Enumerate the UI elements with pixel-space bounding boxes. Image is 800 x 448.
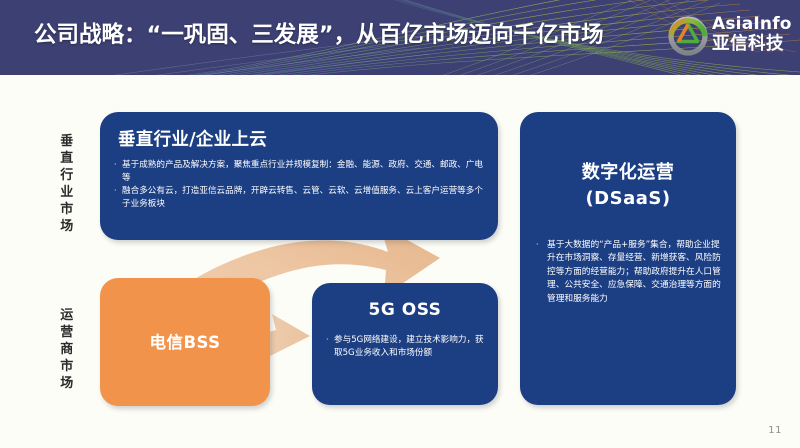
logo-text-en: AsiaInfo: [712, 14, 794, 34]
side-label-char: 市: [56, 201, 78, 218]
card-telecom-bss[interactable]: 电信BSS: [100, 278, 270, 406]
bullet-list-5g-oss: · 参与5G网络建设，建立技术影响力，获取5G业务收入和市场份额: [326, 334, 490, 361]
asiainfo-ring-logo-icon: [668, 16, 708, 56]
side-label-char: 行: [56, 167, 78, 184]
list-item-text: 融合多公有云，打造亚信云品牌，开辟云转售、云管、云软、云增值服务、云上客户运营等…: [122, 185, 490, 210]
card-5g-oss[interactable]: 5G OSS · 参与5G网络建设，建立技术影响力，获取5G业务收入和市场份额: [312, 283, 498, 405]
list-item-text: 基于大数据的“产品+服务”集合，帮助企业提升在市场洞察、存量经营、新增获客、风险…: [547, 239, 724, 306]
slide-header: 公司战略：“一巩固、三发展”，从百亿市场迈向千亿市场: [0, 0, 800, 75]
side-label-char: 业: [56, 184, 78, 201]
card-vertical-industry-cloud[interactable]: 垂直行业/企业上云 · 基于成熟的产品及解决方案，聚焦重点行业并规模复制：金融、…: [100, 112, 498, 240]
bullet-marker-icon: ·: [326, 334, 334, 347]
card-heading-5g-oss: 5G OSS: [312, 300, 498, 320]
bullet-list-vertical-industry-cloud: · 基于成熟的产品及解决方案，聚焦重点行业并规模复制：金融、能源、政府、交通、邮…: [114, 159, 490, 211]
side-label-char: 营: [56, 324, 78, 341]
card-dsaas[interactable]: 数字化运营 (DSaaS) · 基于大数据的“产品+服务”集合，帮助企业提升在市…: [520, 112, 736, 405]
side-label-operator-market: 运营商市场: [56, 307, 78, 392]
card-heading-telecom-bss: 电信BSS: [100, 329, 270, 353]
logo-wordmark: AsiaInfo 亚信科技: [712, 14, 794, 55]
side-label-vertical-market: 垂直行业市场: [56, 133, 78, 235]
side-label-char: 运: [56, 307, 78, 324]
logo-text-cn: 亚信科技: [712, 34, 794, 55]
asiainfo-logo: AsiaInfo 亚信科技: [668, 9, 794, 65]
bullet-marker-icon: ·: [536, 239, 547, 252]
bullet-marker-icon: ·: [114, 185, 122, 198]
bullet-list-dsaas: · 基于大数据的“产品+服务”集合，帮助企业提升在市场洞察、存量经营、新增获客、…: [536, 239, 724, 307]
list-item-text: 参与5G网络建设，建立技术影响力，获取5G业务收入和市场份额: [334, 334, 490, 360]
side-label-char: 场: [56, 375, 78, 392]
side-label-char: 直: [56, 150, 78, 167]
page-title: 公司战略：“一巩固、三发展”，从百亿市场迈向千亿市场: [34, 17, 644, 49]
list-item: · 融合多公有云，打造亚信云品牌，开辟云转售、云管、云软、云增值服务、云上客户运…: [114, 185, 490, 210]
side-label-char: 垂: [56, 133, 78, 150]
side-label-char: 商: [56, 341, 78, 358]
card-heading-dsaas-line1: 数字化运营: [520, 160, 736, 186]
list-item-text: 基于成熟的产品及解决方案，聚焦重点行业并规模复制：金融、能源、政府、交通、邮政、…: [122, 159, 490, 184]
bullet-marker-icon: ·: [114, 159, 122, 172]
list-item: · 基于大数据的“产品+服务”集合，帮助企业提升在市场洞察、存量经营、新增获客、…: [536, 239, 724, 306]
card-heading-vertical-industry-cloud: 垂直行业/企业上云: [118, 126, 388, 151]
side-label-char: 市: [56, 358, 78, 375]
card-heading-dsaas: 数字化运营 (DSaaS): [520, 160, 736, 212]
list-item: · 基于成熟的产品及解决方案，聚焦重点行业并规模复制：金融、能源、政府、交通、邮…: [114, 159, 490, 184]
side-label-char: 场: [56, 218, 78, 235]
slide-canvas: 公司战略：“一巩固、三发展”，从百亿市场迈向千亿市场: [0, 0, 800, 448]
list-item: · 参与5G网络建设，建立技术影响力，获取5G业务收入和市场份额: [326, 334, 490, 360]
page-number: 11: [768, 425, 782, 436]
header-divider: [0, 75, 800, 79]
card-heading-dsaas-line2: (DSaaS): [520, 186, 736, 212]
